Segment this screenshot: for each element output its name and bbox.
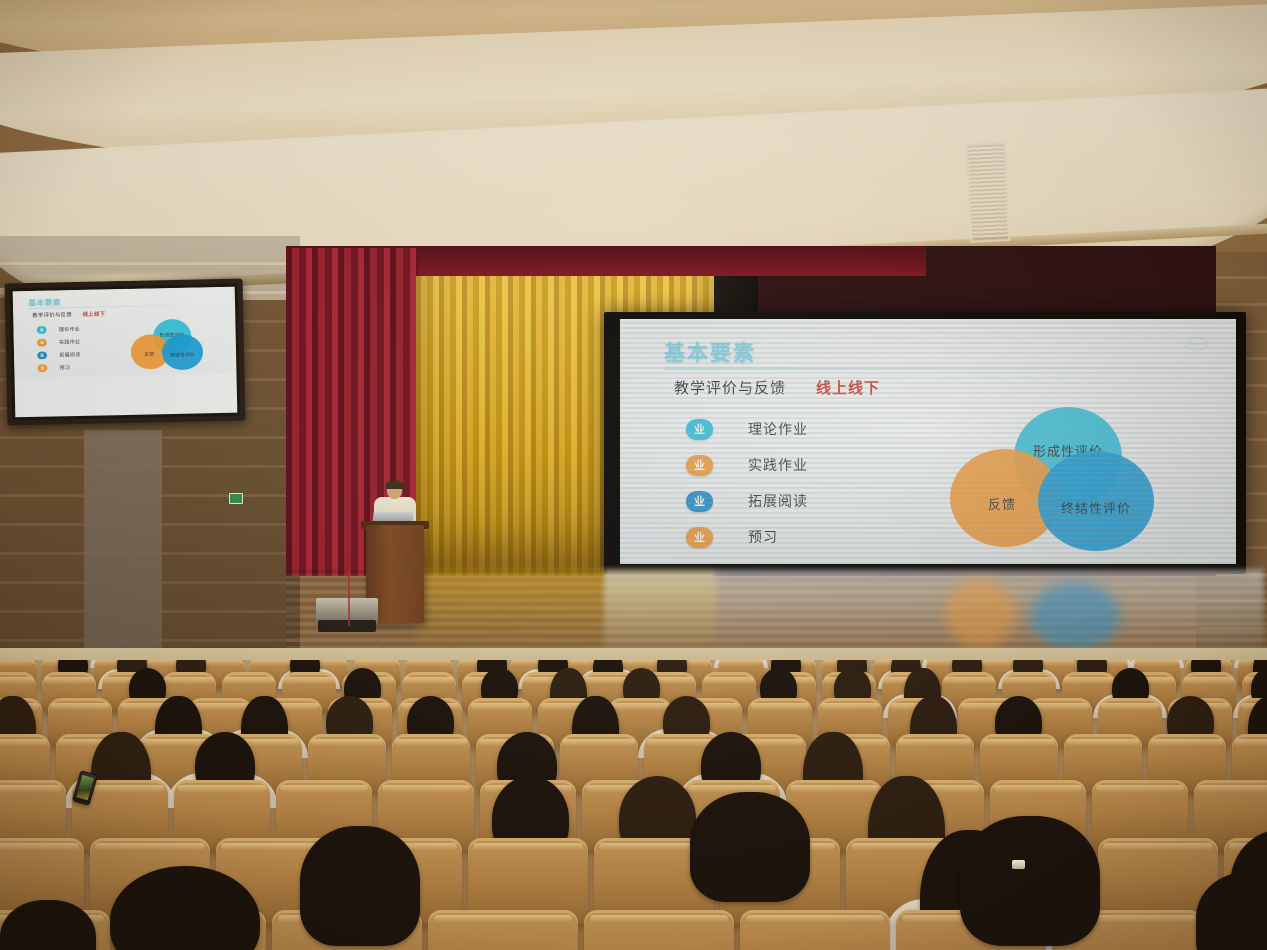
foreground-audience-head	[960, 816, 1100, 946]
orange-circle-reflection	[945, 578, 1015, 648]
mini-slide-title: 基本要素	[28, 297, 61, 308]
bullet-badge-icon: 业	[686, 491, 713, 512]
bullet-label: 预习	[60, 364, 71, 371]
bullet-label: 实践作业	[59, 338, 80, 346]
bullet-badge-icon: 业	[686, 527, 713, 548]
slide-watermark-logo-icon	[1182, 335, 1212, 353]
presentation-slide: 基本要素 教学评价与反馈 线上线下 业理论作业业实践作业业拓展阅读业预习 形成性…	[620, 319, 1236, 564]
bullet-label: 预习	[748, 527, 778, 547]
venn-diagram: 形成性评价 反馈 终结性评价	[942, 407, 1192, 547]
auditorium-seat	[584, 910, 734, 950]
wall-mounted-confidence-monitor: 基本要素 教学评价与反馈 线上线下 业理论作业业实践作业业拓展阅读业预习 形成性…	[5, 279, 246, 426]
mini-slide-subtitle-right: 线上线下	[83, 310, 106, 318]
blue-circle-reflection	[1030, 582, 1120, 650]
bullet-label: 理论作业	[59, 325, 80, 333]
slide-bullet-item: 业预习	[38, 360, 127, 375]
auditorium-seat	[740, 910, 890, 950]
venn-label-feedback: 反馈	[988, 494, 1016, 513]
hair-clip	[1012, 860, 1025, 869]
screen-reflection-on-floor	[604, 570, 1264, 650]
exit-sign-icon	[229, 493, 243, 504]
foreground-audience-head	[300, 826, 420, 946]
bullet-badge-icon: 业	[37, 326, 47, 334]
venn-label-summative: 终结性评价	[1061, 498, 1131, 517]
venn-circle-summative: 终结性评价	[1038, 451, 1154, 551]
bullet-badge-icon: 业	[37, 339, 47, 347]
bullet-badge-icon: 业	[38, 364, 48, 372]
slide-subtitle-right: 线上线下	[816, 377, 880, 398]
wall-access-panel	[84, 430, 162, 650]
mini-slide-subtitle-left: 教学评价与反馈	[32, 311, 72, 319]
auditorium-seat	[428, 910, 578, 950]
auditorium-photo: 基本要素 教学评价与反馈 线上线下 业理论作业业实践作业业拓展阅读业预习 形成性…	[0, 0, 1267, 950]
bullet-label: 拓展阅读	[59, 351, 80, 359]
mic-cable	[348, 570, 356, 626]
mini-venn-circle-right: 终结性评价	[162, 334, 204, 370]
bullet-label: 理论作业	[748, 419, 808, 439]
foreground-audience-head	[690, 792, 810, 902]
slide-bullet-item: 业预习	[686, 519, 936, 555]
slide-bullet-item: 业理论作业	[686, 411, 936, 447]
slide-bullet-item: 业实践作业	[686, 447, 936, 483]
slide-subtitle-left: 教学评价与反馈	[674, 377, 786, 398]
bullet-label: 实践作业	[748, 455, 808, 475]
bullet-badge-icon: 业	[37, 351, 47, 359]
ceiling-vent-grille-icon	[966, 142, 1010, 243]
mini-slide: 基本要素 教学评价与反馈 线上线下 业理论作业业实践作业业拓展阅读业预习 形成性…	[13, 287, 233, 378]
presenter-hair	[386, 480, 403, 489]
slide-bullet-item: 业拓展阅读	[686, 483, 936, 519]
audio-equipment-case	[318, 620, 376, 632]
mini-venn-diagram: 形成性评价 反馈 终结性评价	[127, 318, 217, 369]
mini-bullet-list: 业理论作业业实践作业业拓展阅读业预习	[37, 322, 127, 375]
bullet-badge-icon: 业	[686, 419, 713, 440]
slide-bullet-list: 业理论作业业实践作业业拓展阅读业预习	[686, 411, 936, 555]
led-wall-screen: 基本要素 教学评价与反馈 线上线下 业理论作业业实践作业业拓展阅读业预习 形成性…	[620, 319, 1236, 564]
slide-title: 基本要素	[664, 337, 756, 367]
bullet-label: 拓展阅读	[748, 491, 808, 511]
slide-title-underline	[664, 367, 1224, 370]
bullet-badge-icon: 业	[686, 455, 713, 476]
